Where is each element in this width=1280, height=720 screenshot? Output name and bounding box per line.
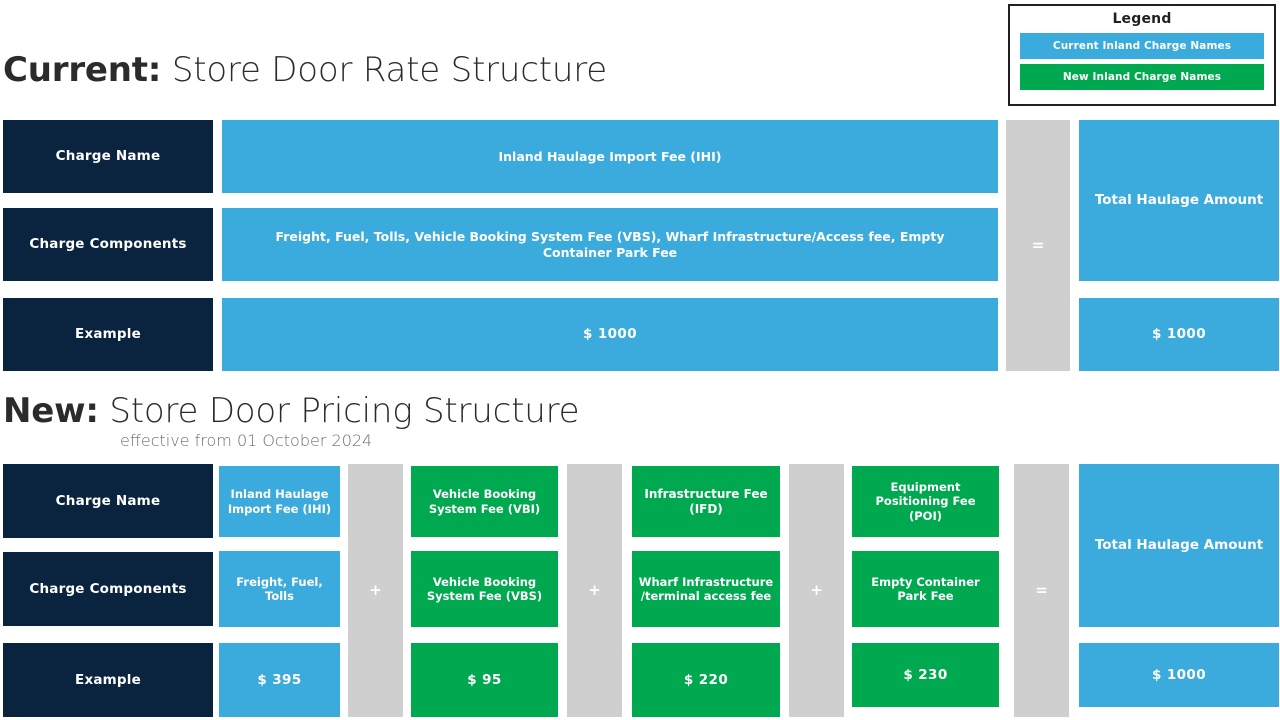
current-row-label-charge-components: Charge Components (3, 208, 213, 281)
new-total-label-text: Total Haulage Amount (1095, 537, 1263, 553)
new-section-title: New: Store Door Pricing Structure (3, 391, 579, 431)
current-charge-name-cell: Inland Haulage Import Fee (IHI) (222, 120, 998, 193)
new-title-rest: Store Door Pricing Structure (99, 391, 580, 431)
current-example-cell: $ 1000 (222, 298, 998, 371)
new-title-prefix: New: (3, 391, 99, 431)
new-col3-charge-name-text: Infrastructure Fee (IFD) (638, 487, 774, 516)
new-row-label-example: Example (3, 643, 213, 717)
new-operator-1: + (348, 464, 403, 717)
current-row-label-example: Example (3, 298, 213, 371)
new-row-label-charge-components: Charge Components (3, 552, 213, 626)
label-text: Charge Name (56, 148, 161, 164)
new-col2-charge-name-text: Vehicle Booking System Fee (VBI) (417, 487, 552, 515)
new-equals-text: = (1035, 581, 1048, 599)
current-section-title: Current: Store Door Rate Structure (3, 50, 607, 90)
new-col2-example-cell: $ 95 (411, 643, 558, 717)
new-operator-2: + (567, 464, 622, 717)
current-equals-text: = (1032, 236, 1045, 254)
new-col1-charge-components-cell: Freight, Fuel, Tolls (219, 551, 340, 627)
new-col1-example-text: $ 395 (257, 672, 301, 688)
current-title-prefix: Current: (3, 50, 161, 90)
new-col4-charge-components-cell: Empty Container Park Fee (852, 551, 999, 627)
current-row-label-charge-name: Charge Name (3, 120, 213, 193)
new-operator-1-text: + (369, 581, 382, 599)
legend-item-new-label: New Inland Charge Names (1063, 71, 1221, 83)
new-col2-charge-name-cell: Vehicle Booking System Fee (VBI) (411, 466, 558, 537)
new-total-example-cell: $ 1000 (1079, 643, 1279, 707)
label-text: Example (75, 326, 141, 342)
new-equals-operator: = (1014, 464, 1069, 717)
new-col4-example-text: $ 230 (903, 667, 947, 683)
current-charge-name-text: Inland Haulage Import Fee (IHI) (499, 149, 722, 164)
new-col2-charge-components-text: Vehicle Booking System Fee (VBS) (417, 575, 552, 603)
new-col1-charge-name-text: Inland Haulage Import Fee (IHI) (225, 487, 334, 515)
current-equals-operator: = (1006, 120, 1070, 371)
new-col3-example-text: $ 220 (684, 672, 728, 688)
legend-box: Legend Current Inland Charge Names New I… (1008, 4, 1276, 106)
legend-item-current: Current Inland Charge Names (1020, 33, 1264, 59)
new-col4-charge-name-cell: Equipment Positioning Fee (POI) (852, 466, 999, 537)
new-col4-example-cell: $ 230 (852, 643, 999, 707)
legend-title: Legend (1020, 11, 1264, 27)
new-col4-charge-components-text: Empty Container Park Fee (858, 575, 993, 603)
current-total-example-text: $ 1000 (1152, 326, 1206, 342)
new-col2-charge-components-cell: Vehicle Booking System Fee (VBS) (411, 551, 558, 627)
current-example-text: $ 1000 (583, 326, 637, 342)
new-col1-charge-components-text: Freight, Fuel, Tolls (225, 575, 334, 603)
new-col2-example-text: $ 95 (467, 672, 501, 688)
current-charge-components-cell: Freight, Fuel, Tolls, Vehicle Booking Sy… (222, 208, 998, 281)
current-charge-components-text: Freight, Fuel, Tolls, Vehicle Booking Sy… (262, 229, 958, 260)
slide-canvas: Legend Current Inland Charge Names New I… (0, 0, 1280, 720)
label-text: Example (75, 672, 141, 688)
new-total-haulage-cell: Total Haulage Amount (1079, 464, 1279, 627)
new-col3-example-cell: $ 220 (632, 643, 780, 717)
new-col3-charge-components-text: Wharf Infrastructure /terminal access fe… (638, 575, 774, 603)
current-total-label-text: Total Haulage Amount (1095, 192, 1263, 208)
new-operator-3-text: + (810, 581, 823, 599)
new-total-example-text: $ 1000 (1152, 667, 1206, 683)
new-col4-charge-name-text: Equipment Positioning Fee (POI) (858, 480, 993, 522)
legend-item-new: New Inland Charge Names (1020, 64, 1264, 90)
label-text: Charge Components (29, 581, 186, 597)
current-title-rest: Store Door Rate Structure (161, 50, 607, 90)
current-total-example-cell: $ 1000 (1079, 298, 1279, 371)
new-col1-example-cell: $ 395 (219, 643, 340, 717)
new-section-subtitle: effective from 01 October 2024 (120, 431, 372, 450)
new-col3-charge-components-cell: Wharf Infrastructure /terminal access fe… (632, 551, 780, 627)
new-col3-charge-name-cell: Infrastructure Fee (IFD) (632, 466, 780, 537)
new-row-label-charge-name: Charge Name (3, 464, 213, 538)
new-col1-charge-name-cell: Inland Haulage Import Fee (IHI) (219, 466, 340, 537)
new-operator-3: + (789, 464, 844, 717)
label-text: Charge Components (29, 236, 186, 252)
current-total-haulage-cell: Total Haulage Amount (1079, 120, 1279, 281)
legend-item-current-label: Current Inland Charge Names (1053, 40, 1231, 52)
new-operator-2-text: + (588, 581, 601, 599)
label-text: Charge Name (56, 493, 161, 509)
